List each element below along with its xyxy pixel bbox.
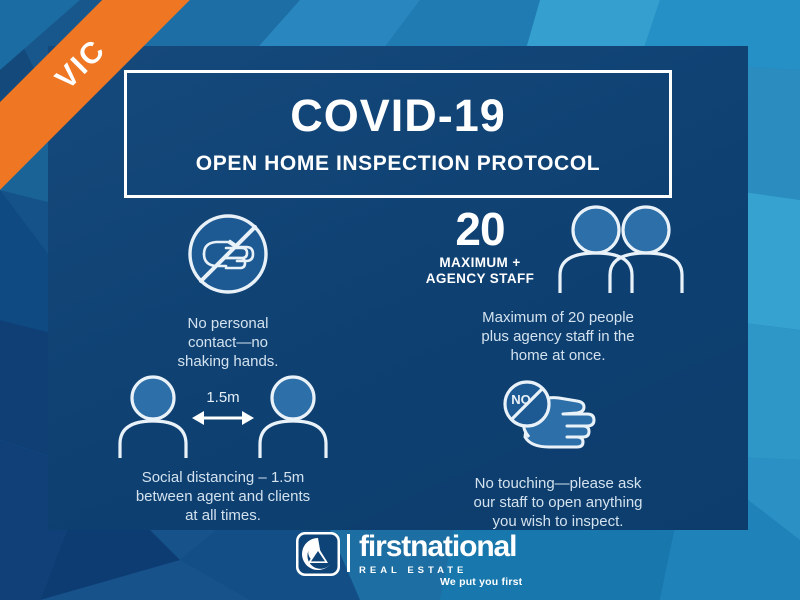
logo-tagline: We put you first (440, 576, 522, 588)
first-national-logo-mark (296, 532, 340, 576)
logo-wordmark: firstnational REAL ESTATE (359, 532, 516, 576)
page-subtitle: OPEN HOME INSPECTION PROTOCOL (196, 152, 600, 176)
protocol-items: No personal contact—no shaking hands. 20… (48, 196, 748, 530)
logo-sub: REAL ESTATE (359, 565, 516, 576)
infographic-poster: COVID-19 OPEN HOME INSPECTION PROTOCOL (0, 0, 800, 600)
max-count-number: 20 (426, 206, 535, 252)
protocol-item-social-distancing: 1.5m Social distancing – 1.5m between ag… (88, 366, 358, 526)
logo-divider (347, 534, 350, 572)
page-title: COVID-19 (290, 92, 506, 139)
protocol-caption: Social distancing – 1.5m between agent a… (88, 468, 358, 526)
count-block: 20 MAXIMUM + AGENCY STAFF (398, 198, 718, 296)
no-touching-hand-icon: NO (491, 376, 625, 462)
ribbon-band: VIC (0, 0, 203, 191)
logo-name: firstnational (359, 532, 516, 562)
distance-label: 1.5m (206, 389, 239, 406)
ribbon-label: VIC (46, 34, 111, 99)
protocol-item-max-people: 20 MAXIMUM + AGENCY STAFF Maximum of 20 … (398, 198, 718, 366)
protocol-item-no-handshake: No personal contact—no shaking hands. (108, 202, 348, 372)
person-left-icon (116, 372, 190, 458)
count-text: 20 MAXIMUM + AGENCY STAFF (426, 206, 535, 288)
protocol-caption: Maximum of 20 people plus agency staff i… (398, 308, 718, 366)
protocol-caption: No touching—please ask our staff to open… (408, 474, 708, 532)
icon-row: 1.5m (88, 366, 358, 458)
state-ribbon: VIC (0, 0, 215, 215)
double-arrow-icon (190, 408, 256, 428)
person-right-icon (256, 372, 330, 458)
two-people-icon (548, 201, 690, 293)
icon-row (108, 202, 348, 300)
icon-row: NO (408, 364, 708, 462)
max-count-label: MAXIMUM + AGENCY STAFF (426, 255, 535, 286)
no-handshake-icon (182, 208, 274, 300)
distance-indicator: 1.5m (190, 389, 256, 458)
protocol-item-no-touching: NO No touching—please ask our staff to o… (408, 364, 708, 532)
no-badge-label: NO (511, 392, 531, 407)
protocol-caption: No personal contact—no shaking hands. (108, 314, 348, 372)
